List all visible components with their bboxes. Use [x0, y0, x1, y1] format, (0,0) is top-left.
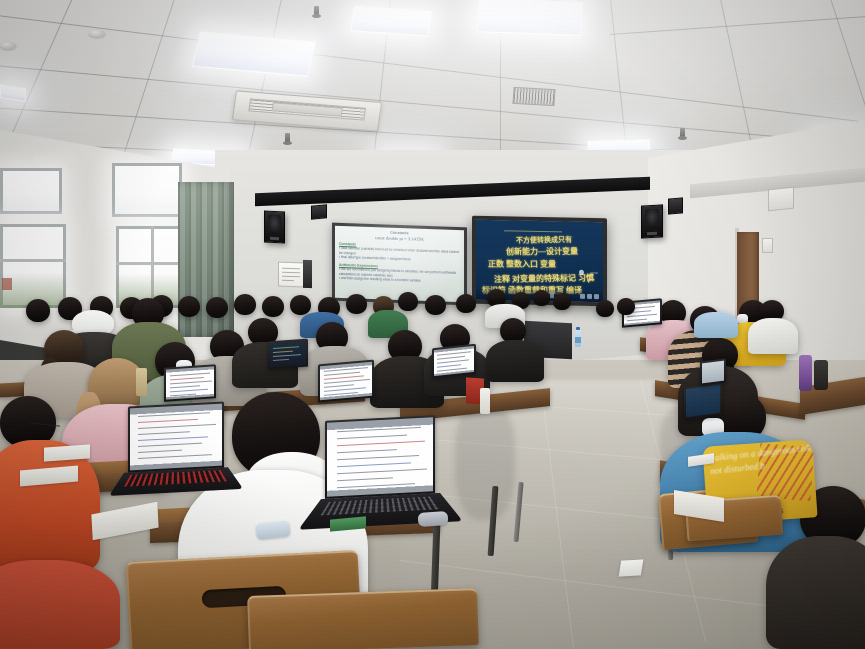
laptop-mid-centre[interactable]: [318, 360, 374, 403]
whiteboard-clock: 00:00: [590, 272, 598, 276]
whiteboard-corner-icons[interactable]: [580, 294, 599, 299]
home-icon[interactable]: [587, 294, 592, 299]
laptop-front-red-keyboard[interactable]: [128, 401, 224, 472]
sprinkler-head: [285, 133, 290, 142]
laptop-mid-left-code[interactable]: [268, 339, 308, 370]
light-switch-plate[interactable]: [762, 238, 773, 253]
projection-screen: Constants const double pi = 3.14159; Con…: [332, 223, 467, 306]
led-panel-light: [192, 31, 316, 76]
menu-icon[interactable]: [580, 294, 585, 299]
tan-bottle: [136, 368, 147, 396]
window-upper-left: [0, 168, 62, 214]
dark-thermos: [814, 360, 828, 390]
paper-sheet-on-floor[interactable]: [619, 559, 644, 576]
mouse-pad-item: [418, 511, 449, 527]
window-lower-centre: [116, 226, 184, 308]
sprinkler-head: [314, 6, 319, 15]
purple-water-bottle: [799, 355, 812, 391]
window-upper-centre: [112, 163, 182, 217]
classroom-photo: Constants const double pi = 3.14159; Con…: [0, 0, 865, 649]
whiteboard-handwriting-line: 不方便转换成只有: [516, 235, 572, 246]
led-panel-light: [0, 84, 26, 102]
led-panel-light: [350, 5, 432, 36]
laptop-front-centre-doc[interactable]: [325, 415, 435, 499]
whiteboard-status-dot: [579, 270, 584, 275]
speaker-right: [641, 204, 663, 238]
speaker-left-small: [311, 204, 327, 219]
speaker-left: [264, 210, 285, 243]
whiteboard-handwriting-line: 创新能力—设计变量: [506, 246, 578, 258]
laptop-keyboard-red-backlit[interactable]: [125, 470, 228, 487]
wall-mounted-box: [768, 187, 794, 212]
window-lower-left: [0, 224, 66, 308]
laptop-right-tablet[interactable]: [700, 358, 726, 385]
laptop-mid-left[interactable]: [164, 364, 216, 402]
laptop-mid-right[interactable]: [432, 344, 476, 379]
smoke-detector: [89, 30, 105, 37]
laptop-right-row4[interactable]: [684, 382, 722, 419]
ac-cassette-unit: [232, 90, 382, 131]
floor-reflection-blob: [455, 400, 515, 520]
speaker-right-small: [668, 197, 683, 214]
white-bottle: [480, 388, 490, 414]
led-panel-light: [477, 0, 583, 36]
air-vent: [512, 87, 555, 106]
notice-board: [278, 262, 304, 288]
chair-front-right[interactable]: [247, 588, 479, 649]
back-icon[interactable]: [594, 294, 599, 299]
smoke-detector: [0, 42, 16, 49]
whiteboard-handwriting-line: 正数 整数入口 变量: [488, 259, 556, 270]
sprinkler-head: [680, 128, 685, 137]
podium-water-bottle: [575, 330, 581, 347]
wall-control-panel[interactable]: [303, 260, 312, 288]
